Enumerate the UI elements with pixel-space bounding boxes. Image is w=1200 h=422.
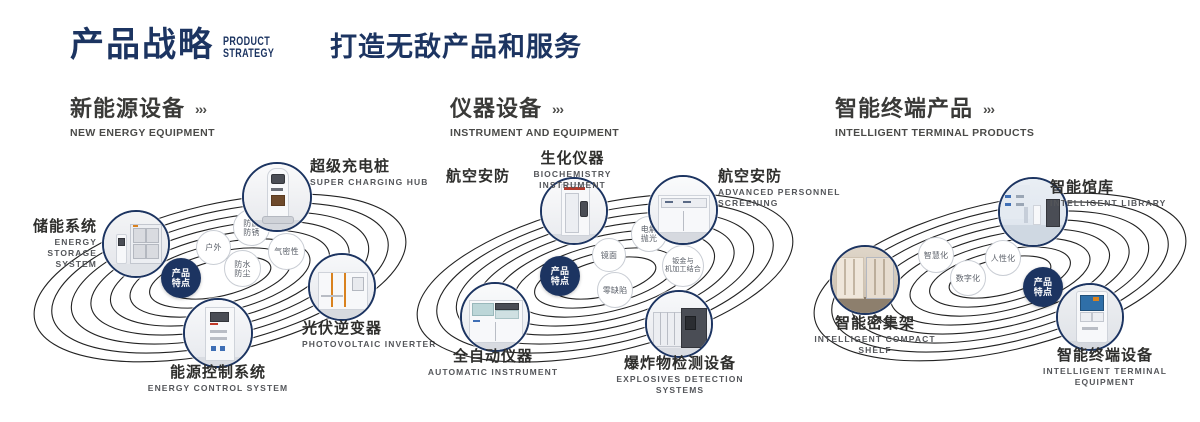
feature-bubble-label: 镜面 (601, 251, 617, 260)
section-cn-label: 仪器设备 (450, 98, 542, 120)
section-en-label: INTELLIGENT TERMINAL PRODUCTS (835, 127, 1034, 139)
caption-automatic-instrument: 全自动仪器 AUTOMATIC INSTRUMENT (418, 348, 568, 378)
chevrons-right-icon: ››› (552, 101, 563, 117)
caption-cn: 能源控制系统 (103, 364, 333, 381)
node-automatic-instrument[interactable] (460, 282, 530, 352)
section-en-label: INSTRUMENT AND EQUIPMENT (450, 127, 619, 139)
caption-en: INTELLIGENT LIBRARY (1050, 198, 1200, 209)
caption-cn: 爆炸物检测设备 (595, 355, 765, 372)
feature-bubble-label: 气密性 (274, 247, 299, 256)
feature-bubble-label: 防水 防尘 (234, 260, 250, 278)
node-photovoltaic-inverter[interactable] (308, 253, 376, 321)
caption-energy-storage-system: 储能系统 ENERGY STORAGE SYSTEM (2, 218, 97, 269)
center-bubble-label: 产品 特点 (172, 268, 191, 288)
control-cabinet-icon (185, 300, 251, 366)
section-cn-label: 新能源设备 (70, 98, 185, 120)
node-energy-storage-system[interactable] (102, 210, 170, 278)
caption-en: ENERGY CONTROL SYSTEM (103, 383, 333, 394)
node-explosives-detection-systems[interactable] (645, 290, 713, 358)
node-advanced-personnel-screening[interactable] (648, 175, 718, 245)
caption-cn: 全自动仪器 (418, 348, 568, 365)
feature-bubble-label: 数字化 (956, 274, 981, 283)
center-bubble-product-features: 产品 特点 (1023, 267, 1063, 307)
caption-cn: 储能系统 (2, 218, 97, 235)
caption-cn: 智能馆库 (1050, 179, 1200, 196)
center-bubble-label: 产品 特点 (1034, 277, 1053, 297)
header-title-en: PRODUCT STRATEGY (223, 36, 274, 60)
caption-en: INTELLIGENT TERMINAL EQUIPMENT (1015, 366, 1195, 387)
diagram-instrument: 产品 特点 镜面 电解 抛光 零缺陷 钣金与 机加工结合 生化仪器 BIOCH (400, 150, 810, 400)
poster-canvas: 产品战略 PRODUCT STRATEGY 打造无敌产品和服务 新能源设备 ››… (0, 0, 1200, 422)
caption-energy-control-system: 能源控制系统 ENERGY CONTROL SYSTEM (103, 364, 333, 394)
caption-intelligent-compact-shelf: 智能密集架 INTELLIGENT COMPACT SHELF (795, 315, 955, 356)
caption-en: AUTOMATIC INSTRUMENT (418, 367, 568, 378)
caption-cn: 航空安防 (340, 168, 510, 185)
caption-intelligent-library: 智能馆库 INTELLIGENT LIBRARY (1050, 179, 1200, 209)
node-intelligent-terminal-equipment[interactable] (1056, 283, 1124, 351)
feature-bubble-zero-defect: 零缺陷 (597, 272, 633, 308)
caption-biochemistry-instrument: 生化仪器 BIOCHEMISTRY INSTRUMENT (500, 150, 645, 191)
feature-bubble-label: 零缺陷 (603, 286, 628, 295)
feature-bubble-airtight: 气密性 (268, 233, 305, 270)
section-cn-label: 智能终端产品 (835, 98, 973, 120)
chevrons-right-icon: ››› (983, 101, 994, 117)
caption-en: BIOCHEMISTRY INSTRUMENT (500, 169, 645, 190)
screening-machine-icon (650, 177, 716, 243)
node-energy-control-system[interactable] (183, 298, 253, 368)
caption-en: INTELLIGENT COMPACT SHELF (795, 334, 955, 355)
feature-bubble-digital: 数字化 (950, 260, 986, 296)
node-super-charging-hub[interactable] (242, 162, 312, 232)
node-intelligent-compact-shelf[interactable] (830, 245, 900, 315)
feature-bubble-humanized: 人性化 (985, 240, 1021, 276)
header-title-cn: 产品战略 (70, 28, 214, 62)
center-bubble-label: 产品 特点 (551, 266, 570, 286)
feature-bubble-label: 智慧化 (924, 251, 949, 260)
caption-en: EXPLOSIVES DETECTION SYSTEMS (595, 374, 765, 395)
poster-header: 产品战略 PRODUCT STRATEGY (70, 28, 289, 62)
explosives-detector-icon (647, 292, 711, 356)
diagram-intelligent-terminal: 产品 特点 智慧化 数字化 人性化 智能馆库 (800, 155, 1200, 405)
compact-shelf-icon (832, 247, 898, 313)
diagram-new-energy: 产品 特点 户外 防腐 防锈 防水 防尘 气密性 (20, 150, 420, 400)
header-subtitle: 打造无敌产品和服务 (330, 31, 582, 63)
caption-cn: 智能终端设备 (1015, 347, 1195, 364)
chevrons-right-icon: ››› (195, 101, 206, 117)
feature-bubble-label: 钣金与 机加工结合 (665, 258, 701, 274)
feature-bubble-label: 户外 (205, 243, 221, 252)
feature-bubble-waterproof: 防水 防尘 (224, 250, 261, 287)
section-title-intelligent-terminal: 智能终端产品 ››› INTELLIGENT TERMINAL PRODUCTS (835, 98, 1034, 139)
center-bubble-product-features: 产品 特点 (540, 256, 580, 296)
caption-en: ENERGY STORAGE SYSTEM (2, 237, 97, 269)
caption-aviation-security-left: 航空安防 (340, 168, 510, 185)
feature-bubble-sheetmetal-machining: 钣金与 机加工结合 (662, 245, 704, 287)
automatic-analyzer-icon (462, 284, 528, 350)
self-service-kiosk-icon (1058, 285, 1122, 349)
caption-intelligent-terminal-equipment: 智能终端设备 INTELLIGENT TERMINAL EQUIPMENT (1015, 347, 1195, 388)
pv-inverter-icon (310, 255, 374, 319)
section-title-new-energy: 新能源设备 ››› NEW ENERGY EQUIPMENT (70, 98, 215, 139)
feature-bubble-smart: 智慧化 (918, 237, 954, 273)
energy-storage-cabinet-icon (104, 212, 168, 276)
charging-pile-icon (244, 164, 310, 230)
section-title-instrument: 仪器设备 ››› INSTRUMENT AND EQUIPMENT (450, 98, 619, 139)
section-en-label: NEW ENERGY EQUIPMENT (70, 127, 215, 139)
feature-bubble-label: 人性化 (991, 254, 1016, 263)
caption-cn: 智能密集架 (795, 315, 955, 332)
caption-explosives-detection-systems: 爆炸物检测设备 EXPLOSIVES DETECTION SYSTEMS (595, 355, 765, 396)
feature-bubble-mirror-finish: 镜面 (592, 238, 626, 272)
caption-cn: 生化仪器 (500, 150, 645, 167)
